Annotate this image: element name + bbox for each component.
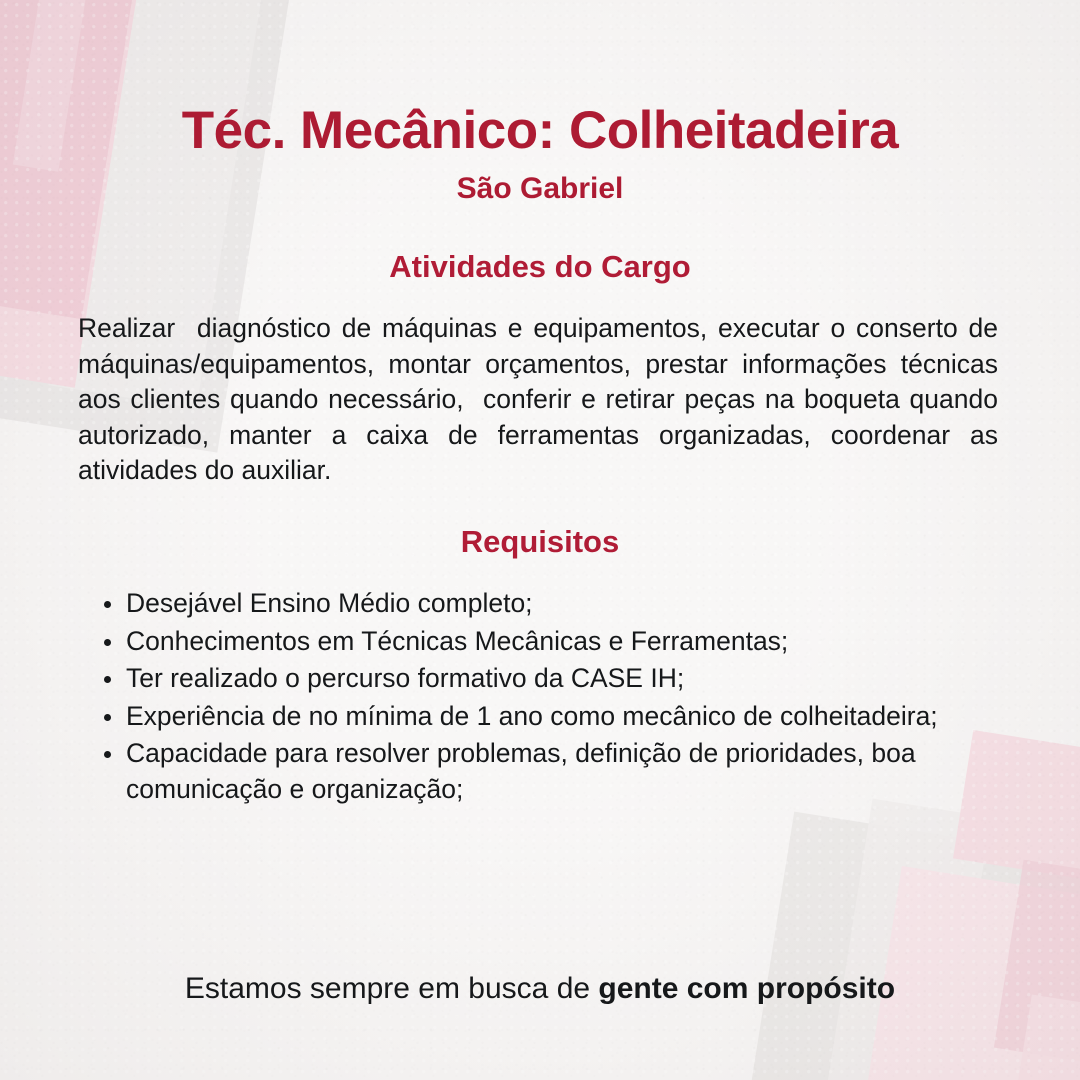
list-item: Desejável Ensino Médio completo; — [126, 586, 1026, 622]
footer-tagline-regular: Estamos sempre em busca de — [185, 972, 599, 1005]
poster-content: Téc. Mecânico: Colheitadeira São Gabriel… — [0, 0, 1080, 1080]
requirements-list: Desejável Ensino Médio completo; Conheci… — [96, 586, 1026, 809]
list-item: Capacidade para resolver problemas, defi… — [126, 736, 1026, 807]
footer-tagline: Estamos sempre em busca de gente com pro… — [0, 972, 1080, 1006]
list-item: Experiência de no mínima de 1 ano como m… — [126, 699, 1026, 735]
activities-paragraph: Realizar diagnóstico de máquinas e equip… — [78, 311, 998, 489]
job-posting-poster: Téc. Mecânico: Colheitadeira São Gabriel… — [0, 0, 1080, 1080]
job-location: São Gabriel — [0, 172, 1080, 206]
list-item: Conhecimentos em Técnicas Mecânicas e Fe… — [126, 624, 1026, 660]
footer-tagline-bold: gente com propósito — [598, 972, 895, 1005]
requirements-heading: Requisitos — [0, 524, 1080, 560]
list-item: Ter realizado o percurso formativo da CA… — [126, 661, 1026, 697]
job-title: Téc. Mecânico: Colheitadeira — [0, 103, 1080, 159]
activities-heading: Atividades do Cargo — [0, 249, 1080, 285]
